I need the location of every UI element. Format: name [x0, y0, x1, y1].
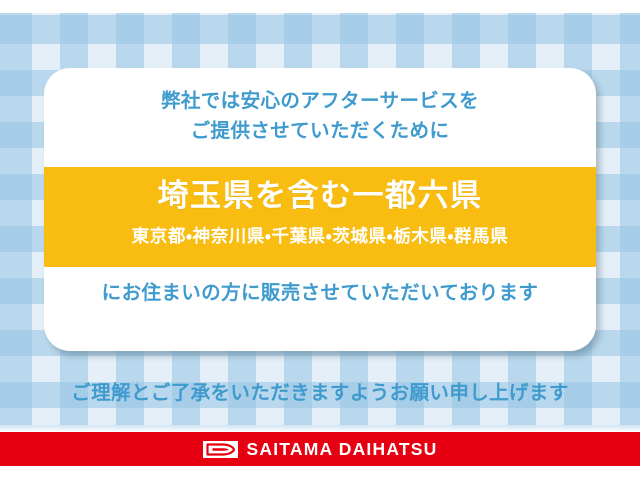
- footer-white-strip: [0, 466, 640, 480]
- brand-lockup: SAITAMA DAIHATSU: [203, 439, 438, 460]
- highlight-headline: 埼玉県を含む一都六県: [44, 175, 596, 217]
- highlight-prefecture-list: 東京都・神奈川県・千葉県・茨城県・栃木県・群馬県: [44, 222, 596, 250]
- brand-name-label: SAITAMA DAIHATSU: [247, 439, 438, 460]
- notice-card: 弊社では安心のアフターサービスを ご提供させていただくために 埼玉県を含む一都六…: [44, 68, 596, 351]
- daihatsu-d-mark-icon: [203, 441, 238, 458]
- closing-text: ご理解とご了承をいただきますようお願い申し上げます: [0, 378, 640, 408]
- background-top-white-strip: [0, 0, 640, 13]
- conclusion-text: にお住まいの方に販売させていただいております: [44, 278, 596, 308]
- brand-footer-bar: SAITAMA DAIHATSU: [0, 432, 640, 466]
- highlight-band: 埼玉県を含む一都六県 東京都・神奈川県・千葉県・茨城県・栃木県・群馬県: [44, 167, 596, 267]
- intro-text-block: 弊社では安心のアフターサービスを ご提供させていただくために: [44, 86, 596, 146]
- intro-line-2: ご提供させていただくために: [44, 116, 596, 146]
- intro-line-1: 弊社では安心のアフターサービスを: [161, 90, 479, 112]
- background-bottom-fade: [0, 425, 640, 432]
- notice-banner: 弊社では安心のアフターサービスを ご提供させていただくために 埼玉県を含む一都六…: [0, 0, 640, 480]
